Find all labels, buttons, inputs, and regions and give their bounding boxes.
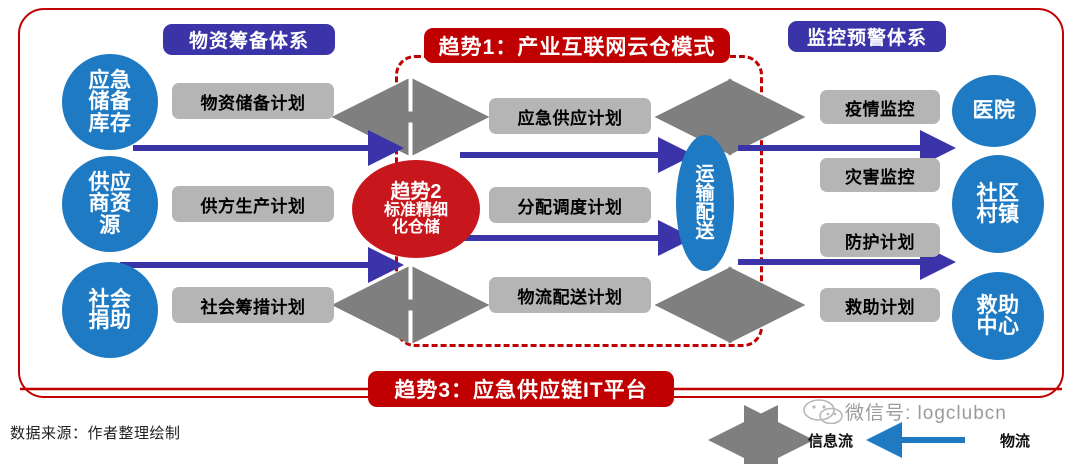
wechat-icon	[800, 398, 846, 424]
diagram-canvas: 物资筹备体系 趋势1：产业互联网云仓模式 监控预警体系 应急 储备 库存 供应 …	[0, 0, 1080, 464]
banner-material-preparation: 物资筹备体系	[163, 24, 335, 55]
banner-trend3: 趋势3：应急供应链IT平台	[368, 371, 674, 407]
node-social-donation[interactable]: 社会 捐助	[62, 262, 158, 358]
hub-trend2-standard-warehouse[interactable]: 趋势2 标准精细 化仓储	[352, 160, 480, 258]
node-supplier-resource[interactable]: 供应 商资 源	[62, 156, 158, 252]
plan-protection[interactable]: 防护计划	[820, 223, 940, 257]
source-note: 数据来源：作者整理绘制	[10, 422, 181, 443]
plan-supplier-production[interactable]: 供方生产计划	[172, 186, 334, 222]
wechat-watermark-label: 微信号: logclubcn	[845, 403, 1007, 424]
node-relief-center[interactable]: 救助 中心	[952, 272, 1044, 360]
hub-trend2-title: 趋势2	[390, 182, 441, 203]
plan-social-fundraising[interactable]: 社会筹措计划	[172, 287, 334, 323]
wechat-watermark: 微信号: logclubcn	[845, 398, 1007, 425]
hub-transport-delivery[interactable]: 运 输 配 送	[676, 135, 734, 271]
node-hospital[interactable]: 医院	[952, 75, 1036, 147]
banner-left-label: 物资筹备体系	[189, 26, 309, 53]
legend-information-flow-label: 信息流	[808, 430, 853, 451]
plan-logistics-delivery[interactable]: 物流配送计划	[489, 277, 651, 313]
legend-logistics-flow-label: 物流	[1000, 430, 1030, 451]
plan-disaster-monitoring[interactable]: 灾害监控	[820, 158, 940, 192]
banner-right-label: 监控预警体系	[807, 23, 927, 50]
plan-material-reserve[interactable]: 物资储备计划	[172, 83, 334, 119]
node-community-village[interactable]: 社区 村镇	[952, 155, 1044, 253]
banner-trend3-label: 趋势3：应急供应链IT平台	[394, 374, 647, 404]
plan-epidemic-monitoring[interactable]: 疫情监控	[820, 90, 940, 124]
plan-emergency-supply[interactable]: 应急供应计划	[489, 98, 651, 134]
node-emergency-stock[interactable]: 应急 储备 库存	[62, 54, 158, 150]
banner-monitoring-alert: 监控预警体系	[788, 21, 946, 52]
plan-allocation-dispatch[interactable]: 分配调度计划	[489, 187, 651, 223]
plan-relief[interactable]: 救助计划	[820, 288, 940, 322]
banner-trend1: 趋势1：产业互联网云仓模式	[424, 28, 730, 63]
banner-trend1-label: 趋势1：产业互联网云仓模式	[439, 31, 716, 61]
